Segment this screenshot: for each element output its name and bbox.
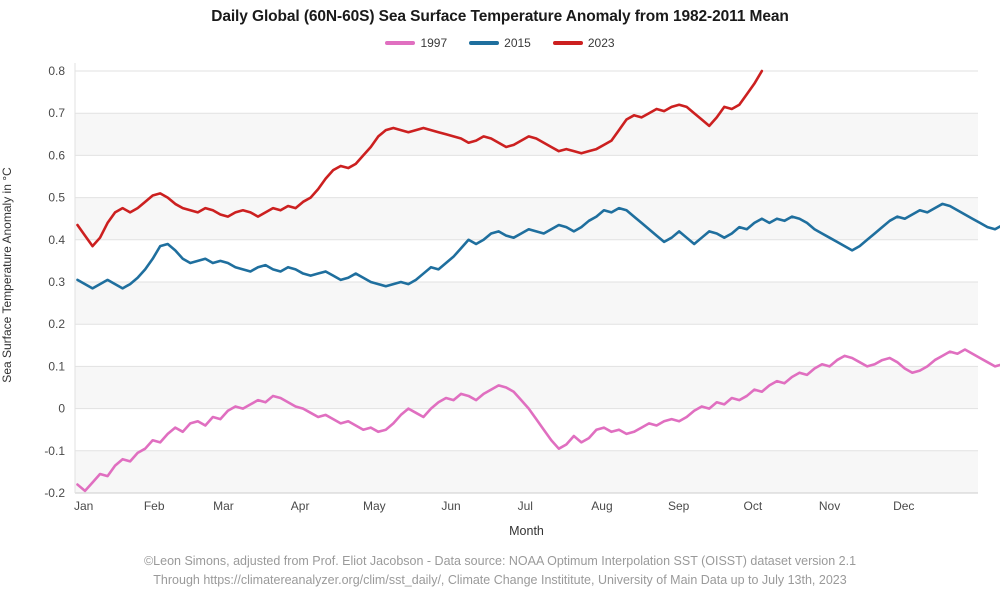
chart-page: Daily Global (60N-60S) Sea Surface Tempe…: [0, 0, 1000, 608]
y-tick-label: 0.8: [48, 64, 65, 78]
x-tick-label: Nov: [819, 499, 840, 513]
x-tick-label: Oct: [744, 499, 763, 513]
y-tick-label: 0.6: [48, 148, 65, 162]
y-tick-label: 0.7: [48, 106, 65, 120]
y-tick-label: 0.1: [48, 359, 65, 373]
x-axis-title: Month: [75, 524, 978, 538]
y-tick-label: 0: [58, 402, 65, 416]
plot-band: [75, 113, 978, 155]
x-tick-label: May: [363, 499, 386, 513]
y-tick-label: 0.4: [48, 233, 65, 247]
x-tick-label: Mar: [213, 499, 234, 513]
plot-band: [75, 366, 978, 408]
caption-line-2: Through https://climatereanalyzer.org/cl…: [0, 571, 1000, 590]
plot-band: [75, 198, 978, 240]
plot-band: [75, 451, 978, 493]
plot-area: 0.80.70.60.50.40.30.20.10-0.1-0.2JanFebM…: [0, 0, 1000, 530]
y-tick-label: 0.5: [48, 191, 65, 205]
x-tick-label: Jun: [441, 499, 460, 513]
x-tick-label: Apr: [291, 499, 310, 513]
x-tick-label: Aug: [591, 499, 612, 513]
x-tick-label: Dec: [893, 499, 914, 513]
y-tick-label: -0.1: [44, 444, 65, 458]
x-tick-label: Feb: [144, 499, 165, 513]
caption-line-1: ©Leon Simons, adjusted from Prof. Eliot …: [0, 552, 1000, 571]
y-tick-label: 0.3: [48, 275, 65, 289]
chart-caption: ©Leon Simons, adjusted from Prof. Eliot …: [0, 552, 1000, 590]
x-tick-label: Sep: [668, 499, 690, 513]
y-tick-label: 0.2: [48, 317, 65, 331]
plot-band: [75, 282, 978, 324]
x-tick-label: Jul: [518, 499, 533, 513]
x-tick-label: Jan: [74, 499, 93, 513]
y-tick-label: -0.2: [44, 486, 65, 500]
